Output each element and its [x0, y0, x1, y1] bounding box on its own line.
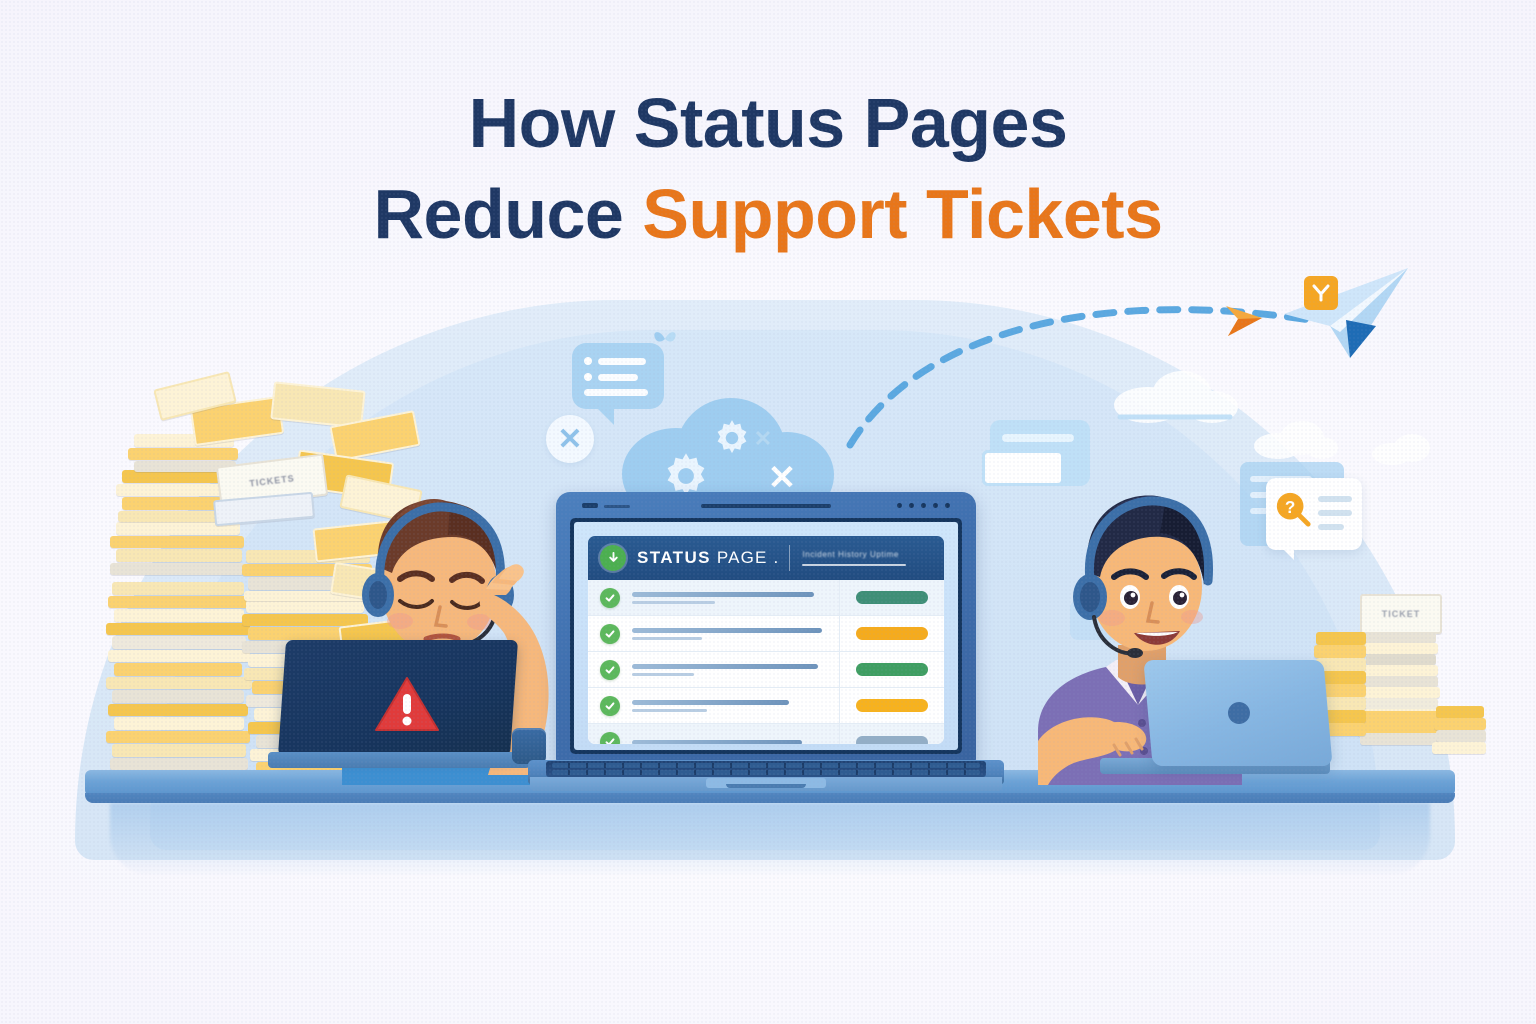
title-line-2: Reduce Support Tickets [0, 169, 1536, 260]
laptop-notch [726, 784, 806, 788]
status-page-title-bold: STATUS [637, 548, 711, 567]
page-title: How Status Pages Reduce Support Tickets [0, 78, 1536, 260]
table-row[interactable] [588, 724, 944, 744]
laptop-keyboard[interactable] [546, 761, 986, 777]
small-ticket-pile: TICKET [1340, 588, 1490, 778]
speaker-slot-icon [701, 504, 831, 508]
arrow-marker-icon [1222, 298, 1276, 345]
check-icon [600, 732, 620, 744]
bezel-mark-icon [582, 503, 598, 508]
laptop-lid: STATUS PAGE . Incident History Uptime [556, 492, 976, 764]
alert-laptop-base [268, 752, 530, 768]
table-row[interactable] [588, 580, 944, 616]
status-page-rows [588, 580, 944, 744]
status-badge[interactable] [856, 663, 928, 676]
blue-laptop [1090, 660, 1330, 780]
title-line-2-navy: Reduce [373, 175, 642, 253]
laptop-screen: STATUS PAGE . Incident History Uptime [574, 522, 958, 750]
row-label-placeholder [632, 700, 839, 712]
status-badge-cell [839, 616, 944, 651]
table-row[interactable] [588, 688, 944, 724]
illustration-canvas: How Status Pages Reduce Support Tickets … [0, 0, 1536, 1024]
status-badge-cell [839, 724, 944, 744]
desk-reflection [110, 803, 1430, 875]
check-icon [600, 588, 620, 608]
status-badge[interactable] [856, 736, 928, 745]
status-page-laptop: STATUS PAGE . Incident History Uptime [556, 492, 976, 792]
row-label-placeholder [632, 592, 839, 604]
status-page-title: STATUS PAGE . [637, 548, 779, 568]
check-icon [600, 624, 620, 644]
row-label-placeholder [632, 740, 839, 745]
bezel-mark-icon [604, 505, 630, 508]
table-row[interactable] [588, 616, 944, 652]
sparkle-icon [648, 325, 682, 358]
status-badge[interactable] [856, 591, 928, 604]
paper-plane-trajectory [840, 270, 1440, 450]
title-line-1: How Status Pages [0, 78, 1536, 169]
check-icon [600, 696, 620, 716]
computer-mouse [512, 728, 546, 764]
table-row[interactable] [588, 652, 944, 688]
status-badge-cell [839, 580, 944, 615]
status-badge[interactable] [856, 627, 928, 640]
status-page-meta-text: Incident History Uptime [802, 550, 932, 559]
ticket-label-envelope: TICKET [1360, 594, 1442, 634]
check-icon [600, 660, 620, 680]
ticket-label-text: TICKETS [249, 473, 295, 488]
paper-plane-icon [1276, 262, 1416, 371]
bezel-dots-icon [897, 503, 950, 508]
warning-triangle-icon [374, 674, 440, 739]
x-mark-icon: ✕ [746, 422, 780, 456]
status-page-header: STATUS PAGE . Incident History Uptime [588, 536, 944, 580]
row-label-placeholder [632, 664, 839, 676]
status-page-meta-rule [802, 564, 906, 566]
status-badge[interactable] [856, 699, 928, 712]
row-label-placeholder [632, 628, 839, 640]
alert-laptop [268, 640, 538, 780]
title-line-2-orange: Support Tickets [642, 175, 1162, 253]
status-page-meta: Incident History Uptime [802, 550, 932, 566]
status-page-title-light: PAGE . [711, 548, 780, 567]
desk-edge [85, 793, 1455, 803]
status-badge-cell [839, 652, 944, 687]
circle-logo [1228, 702, 1250, 724]
download-circle-icon[interactable] [600, 545, 626, 571]
header-divider [789, 545, 790, 571]
status-badge-cell [839, 688, 944, 723]
ticket-label-text: TICKET [1382, 609, 1421, 619]
plane-badge-icon [1304, 276, 1338, 310]
